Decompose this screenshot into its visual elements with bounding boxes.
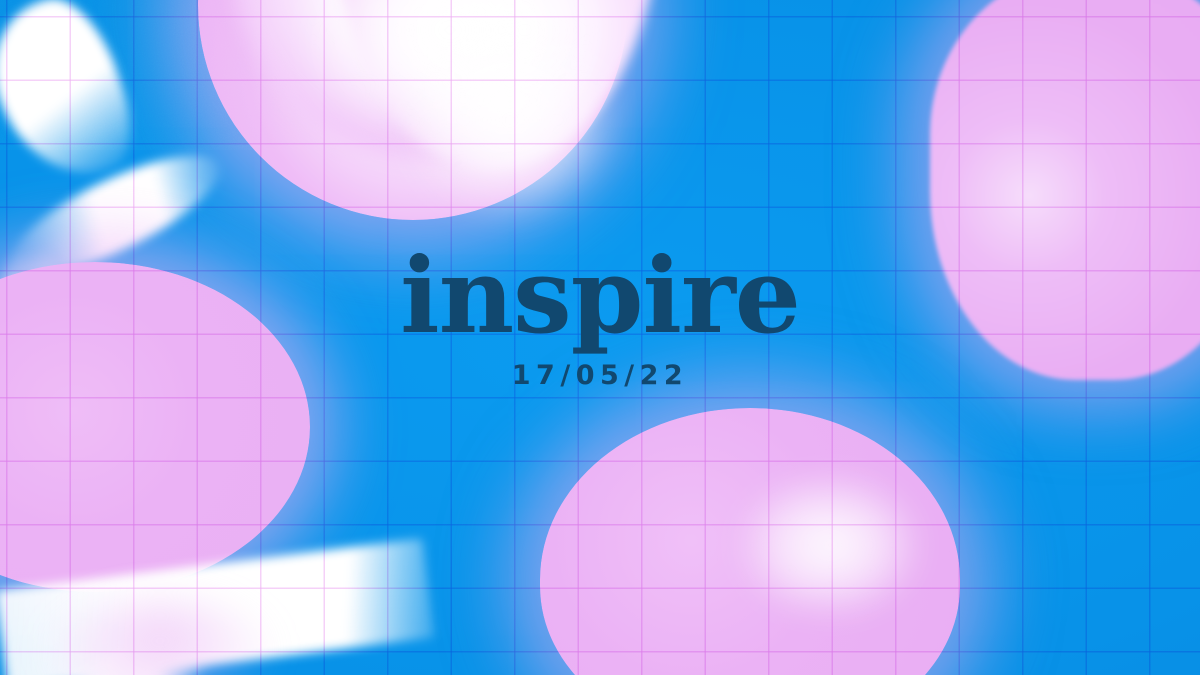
event-date: 17/05/22 bbox=[0, 360, 1200, 391]
highlight-glow-bottom bbox=[735, 470, 925, 620]
glow-bottom-left-core bbox=[40, 600, 280, 675]
glow-bottom-left bbox=[40, 600, 280, 675]
poster-canvas: inspire 17/05/22 bbox=[0, 0, 1200, 675]
highlight-glow-bottom-core bbox=[735, 470, 925, 620]
page-title: inspire bbox=[0, 248, 1200, 344]
highlight-glow-top-right-core bbox=[400, 20, 620, 220]
highlight-glow-top-right bbox=[400, 20, 620, 220]
center-text-block: inspire 17/05/22 bbox=[0, 248, 1200, 391]
